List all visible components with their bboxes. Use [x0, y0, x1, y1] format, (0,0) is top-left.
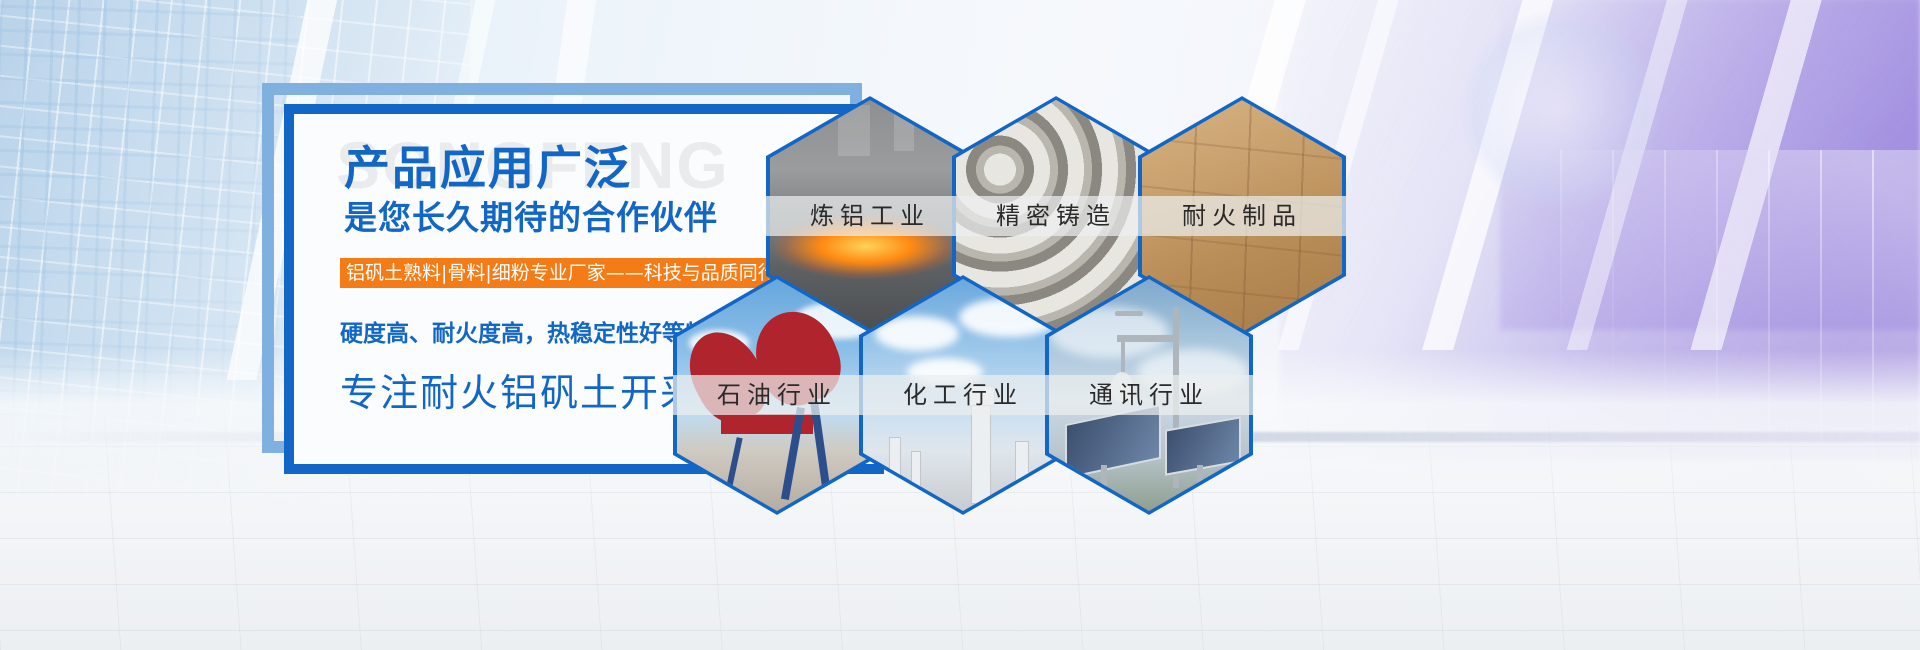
hexagon-label: 耐火制品 — [1138, 196, 1346, 236]
subheadline: 是您长久期待的合作伙伴 — [344, 200, 718, 236]
feature-text: 硬度高、耐火度高，热稳定性好等特性 — [340, 314, 731, 348]
promotional-banner: SONGFENG 产品应用广泛 是您长久期待的合作伙伴 铝矾土熟料|骨料|细粉专… — [0, 0, 1920, 650]
orange-tagline-bar: 铝矾土熟料|骨料|细粉专业厂家——科技与品质同行 — [340, 258, 783, 288]
hexagon-label: 石油行业 — [673, 375, 881, 415]
hexagon-label: 通讯行业 — [1045, 375, 1253, 415]
hexagon-label: 精密铸造 — [952, 196, 1160, 236]
hexagon-label: 炼铝工业 — [766, 196, 974, 236]
headline: 产品应用广泛 — [344, 144, 632, 192]
hexagon-label: 化工行业 — [859, 375, 1067, 415]
